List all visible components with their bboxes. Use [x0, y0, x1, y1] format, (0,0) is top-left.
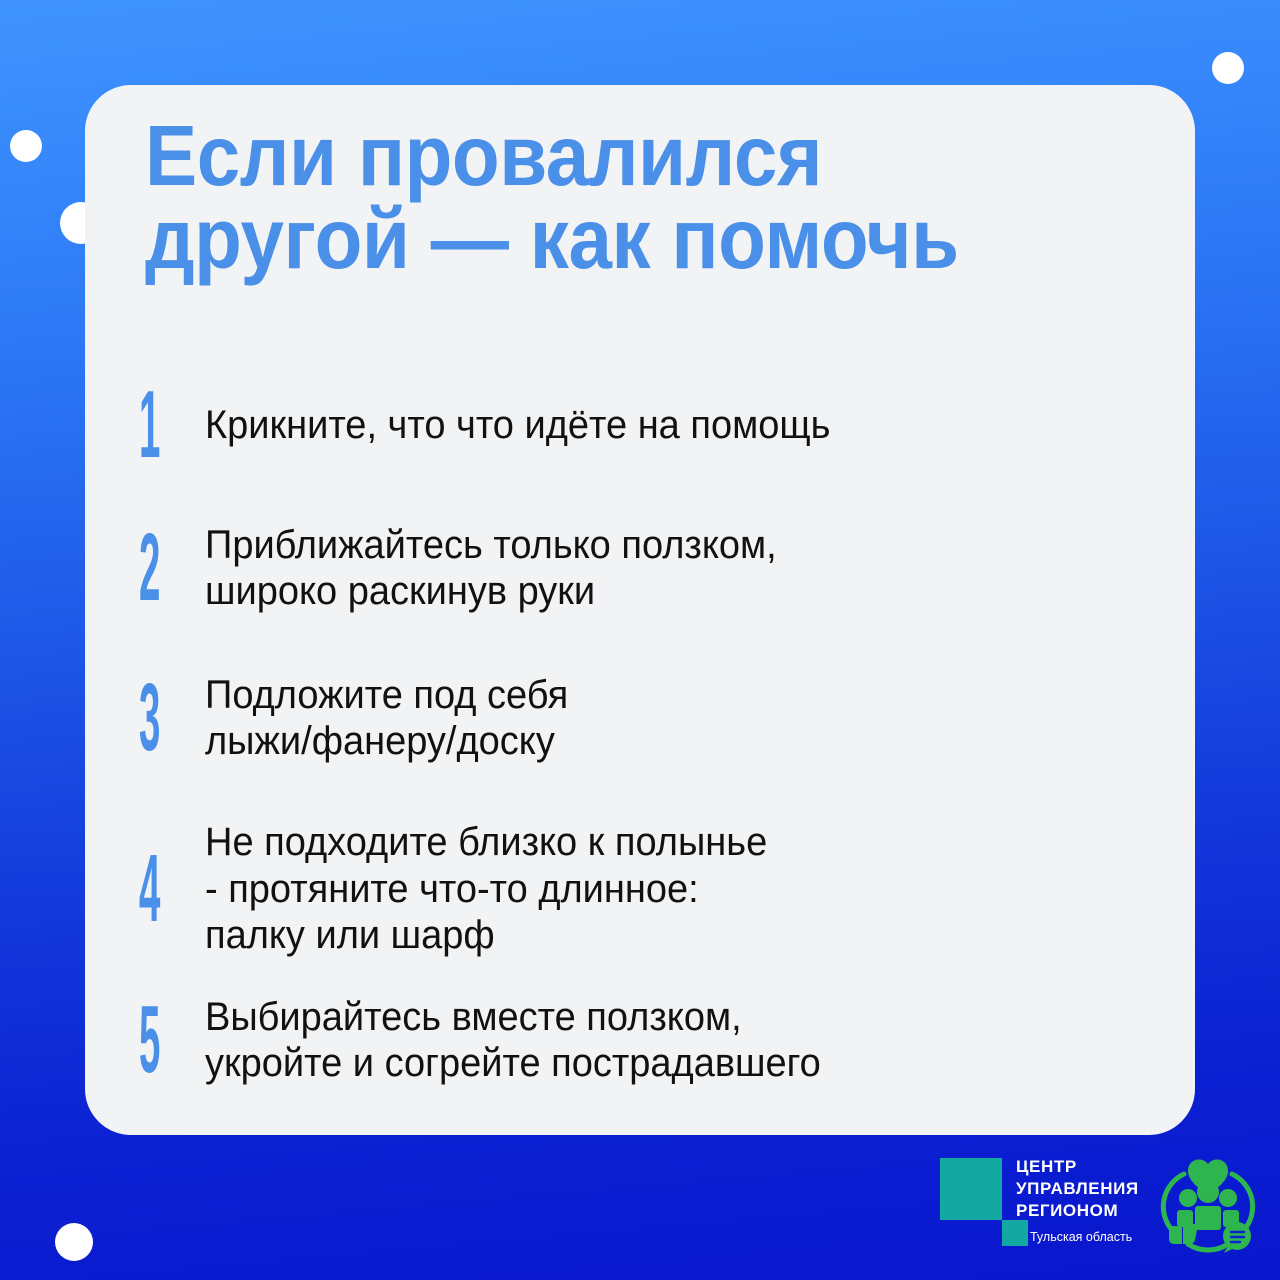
list-item: 1 Крикните, что что идёте на помощь: [139, 357, 1159, 493]
logo-square-small-icon: [1002, 1220, 1028, 1246]
decorative-dot-top-right: [1212, 52, 1244, 84]
community-heart-emblem-icon: [1158, 1152, 1258, 1262]
page-title-line-1: Если провалился: [145, 115, 1074, 198]
step-text-line: палку или шарф: [205, 912, 1111, 958]
step-text-line: Подложите под себя: [205, 672, 1111, 718]
list-item: 2 Приближайтесь только ползком, широко р…: [139, 493, 1159, 643]
page-title-line-2: другой — как помочь: [145, 198, 1074, 281]
decorative-dot-left-upper: [10, 130, 42, 162]
step-text-line: Выбирайтесь вместе ползком,: [205, 994, 1111, 1040]
step-text: Приближайтесь только ползком, широко рас…: [205, 522, 1111, 615]
step-text: Не подходите близко к полынье - протянит…: [205, 819, 1111, 958]
step-number: 3: [139, 670, 176, 766]
step-number: 4: [139, 841, 176, 937]
content-card: Если провалился другой — как помочь 1 Кр…: [85, 85, 1195, 1135]
step-text-line: - протяните что-то длинное:: [205, 866, 1111, 912]
logo-wordmark-line-2: УПРАВЛЕНИЯ: [1016, 1178, 1139, 1200]
logo-wordmark-line-1: ЦЕНТР: [1016, 1156, 1139, 1178]
organization-logo: ЦЕНТР УПРАВЛЕНИЯ РЕГИОНОМ Тульская облас…: [938, 1152, 1158, 1264]
list-item: 3 Подложите под себя лыжи/фанеру/доску: [139, 643, 1159, 793]
list-item: 4 Не подходите близко к полынье - протян…: [139, 793, 1159, 985]
step-number: 1: [139, 377, 176, 473]
step-number: 5: [139, 992, 176, 1088]
logo-square-large-icon: [940, 1158, 1002, 1220]
step-text: Крикните, что что идёте на помощь: [205, 402, 1111, 448]
step-text-line: Приближайтесь только ползком,: [205, 522, 1111, 568]
list-item: 5 Выбирайтесь вместе ползком, укройте и …: [139, 985, 1159, 1095]
step-text: Выбирайтесь вместе ползком, укройте и со…: [205, 994, 1111, 1087]
logo-wordmark: ЦЕНТР УПРАВЛЕНИЯ РЕГИОНОМ: [1016, 1156, 1139, 1221]
logo-region-label: Тульская область: [1030, 1230, 1132, 1244]
logo-wordmark-line-3: РЕГИОНОМ: [1016, 1200, 1139, 1222]
page-title: Если провалился другой — как помочь: [145, 115, 1074, 282]
step-text-line: широко раскинув руки: [205, 568, 1111, 614]
step-text-line: лыжи/фанеру/доску: [205, 718, 1111, 764]
steps-list: 1 Крикните, что что идёте на помощь 2 Пр…: [139, 357, 1159, 1095]
step-text-line: укройте и согрейте пострадавшего: [205, 1040, 1111, 1086]
step-text: Подложите под себя лыжи/фанеру/доску: [205, 672, 1111, 765]
step-text-line: Не подходите близко к полынье: [205, 819, 1111, 865]
decorative-dot-bottom-left: [55, 1223, 93, 1261]
poster-root: Если провалился другой — как помочь 1 Кр…: [0, 0, 1280, 1280]
step-text-line: Крикните, что что идёте на помощь: [205, 402, 1111, 448]
step-number: 2: [139, 520, 176, 616]
